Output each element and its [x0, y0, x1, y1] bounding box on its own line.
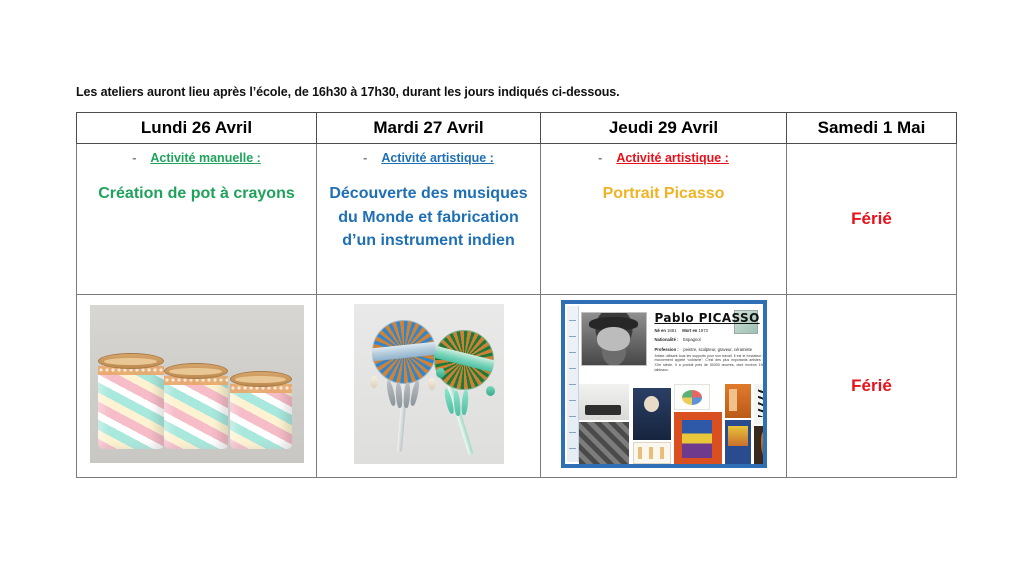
- artwork-thumb: [633, 442, 671, 464]
- artwork-thumb: [579, 422, 629, 464]
- image-cell-lundi: [77, 295, 317, 478]
- picasso-portrait-photo: [581, 312, 647, 366]
- activity-heading-lundi: Activité manuelle :: [150, 151, 260, 165]
- artwork-thumb: [579, 384, 629, 420]
- artwork-thumb: [674, 412, 722, 464]
- image-cell-samedi: Férié: [787, 295, 957, 478]
- poster-nationality: Nationalité : Espagnol: [655, 337, 701, 342]
- pot-right: [230, 371, 292, 449]
- activity-body-lundi: Création de pot à crayons: [83, 182, 310, 206]
- table-header-row: Lundi 26 Avril Mardi 27 Avril Jeudi 29 A…: [77, 113, 957, 144]
- born-label: Né en: [655, 328, 666, 333]
- activity-cell-jeudi: -Activité artistique : Portrait Picasso: [541, 144, 787, 295]
- poster-body-text: Artiste utilisant tous les supports pour…: [655, 354, 767, 374]
- activity-heading-mardi: Activité artistique :: [381, 151, 494, 165]
- artwork-thumb: [725, 384, 751, 418]
- activity-body-jeudi: Portrait Picasso: [547, 182, 780, 206]
- header-jeudi: Jeudi 29 Avril: [541, 113, 787, 144]
- drum-blue: [372, 320, 436, 384]
- header-samedi: Samedi 1 Mai: [787, 113, 957, 144]
- poster-artwork-collage: [579, 384, 759, 460]
- schedule-table: Lundi 26 Avril Mardi 27 Avril Jeudi 29 A…: [76, 112, 957, 478]
- bullet-dash: -: [598, 151, 602, 165]
- activity-cell-mardi: -Activité artistique : Découverte des mu…: [317, 144, 541, 295]
- nationality-value: Espagnol: [683, 337, 700, 342]
- artwork-thumb: [725, 420, 751, 464]
- profession-label: Profession :: [655, 347, 679, 352]
- images-row: Pablo PICASSO Né en 1881 Mort en 1973 Na…: [77, 295, 957, 478]
- poster-profession: Profession : peintre, sculpteur, graveur…: [655, 347, 753, 352]
- drum-green: [434, 330, 494, 390]
- indian-instruments-photo: [354, 304, 504, 464]
- activities-row: -Activité manuelle : Création de pot à c…: [77, 144, 957, 295]
- died-label: Mort en: [682, 328, 697, 333]
- image-cell-jeudi: Pablo PICASSO Né en 1881 Mort en 1973 Na…: [541, 295, 787, 478]
- ferie-label-row1: Férié: [787, 209, 956, 229]
- image-cell-mardi: [317, 295, 541, 478]
- picasso-poster-image: Pablo PICASSO Né en 1881 Mort en 1973 Na…: [561, 300, 767, 468]
- ferie-label-row2: Férié: [787, 376, 956, 396]
- activity-heading-jeudi: Activité artistique :: [616, 151, 729, 165]
- artwork-thumb: [633, 388, 671, 440]
- header-mardi: Mardi 27 Avril: [317, 113, 541, 144]
- nationality-label: Nationalité :: [655, 337, 679, 342]
- artwork-thumb: [674, 384, 710, 410]
- timeline-strip: [567, 306, 579, 462]
- poster-title: Pablo PICASSO: [655, 311, 760, 325]
- bullet-dash: -: [132, 151, 136, 165]
- activity-cell-lundi: -Activité manuelle : Création de pot à c…: [77, 144, 317, 295]
- pencil-pots-photo: [90, 305, 304, 463]
- activity-body-mardi: Découverte des musiques du Monde et fabr…: [323, 182, 534, 253]
- artwork-thumb: [754, 384, 767, 424]
- artwork-thumb: [754, 426, 767, 464]
- activity-cell-samedi: Férié: [787, 144, 957, 295]
- header-lundi: Lundi 26 Avril: [77, 113, 317, 144]
- pot-middle: [164, 363, 228, 449]
- intro-text: Les ateliers auront lieu après l’école, …: [76, 85, 620, 99]
- born-year: 1881: [667, 328, 676, 333]
- poster-dates: Né en 1881 Mort en 1973: [655, 328, 708, 333]
- pot-left: [98, 353, 164, 449]
- profession-value: peintre, sculpteur, graveur, céramiste: [683, 347, 752, 352]
- bullet-dash: -: [363, 151, 367, 165]
- died-year: 1973: [699, 328, 708, 333]
